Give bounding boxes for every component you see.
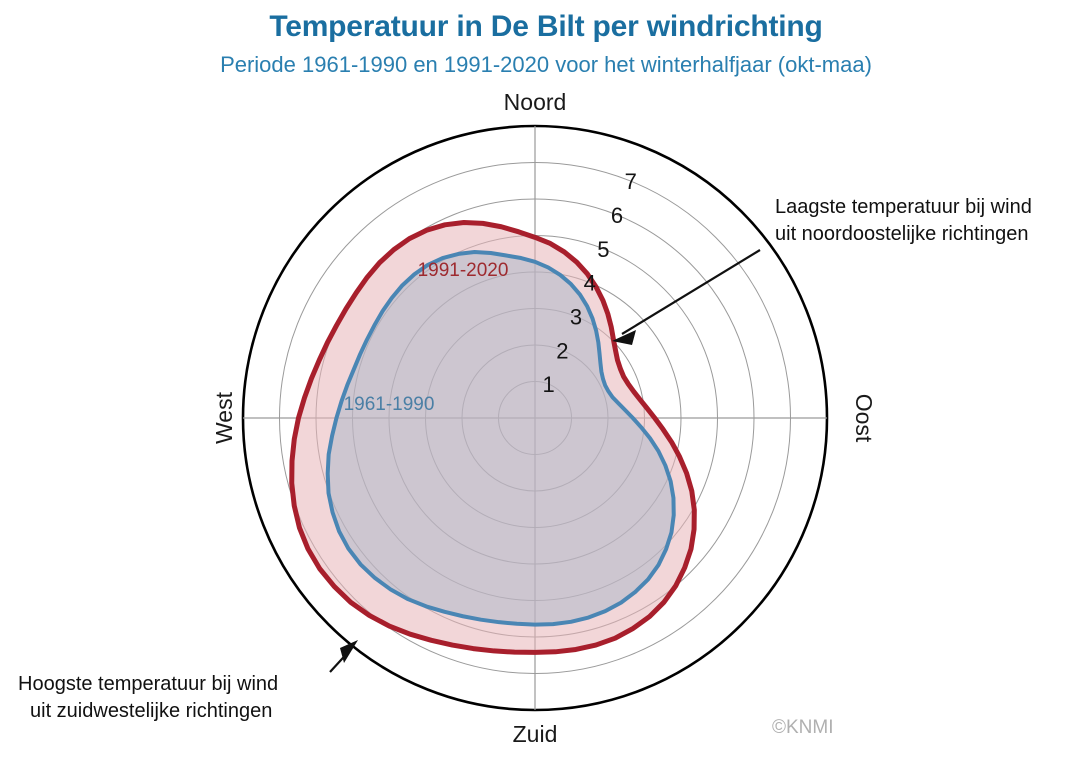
- annotation-ne-line1: Laagste temperatuur bij wind: [775, 196, 1032, 218]
- compass-label-north: Noord: [504, 89, 567, 115]
- compass-label-east: Oost: [851, 394, 877, 443]
- annotation-ne-min: Laagste temperatuur bij wind uit noordoo…: [612, 196, 1032, 345]
- credit-label: ©KNMI: [772, 717, 834, 739]
- annotation-sw-max: Hoogste temperatuur bij wind uit zuidwes…: [18, 640, 358, 722]
- polar-chart: 1234567 Laagste temperatuur bij wind uit…: [0, 0, 1092, 760]
- radial-tick-5: 5: [597, 237, 609, 262]
- annotation-ne-line2: uit noordoostelijke richtingen: [775, 223, 1029, 245]
- radial-tick-1: 1: [543, 372, 555, 397]
- series-label-1991-2020: 1991-2020: [418, 260, 509, 281]
- chart-page: Temperatuur in De Bilt per windrichting …: [0, 0, 1092, 760]
- annotation-ne-leader: [622, 250, 760, 334]
- series-areas: [292, 223, 695, 653]
- annotation-sw-line2: uit zuidwestelijke richtingen: [30, 700, 272, 722]
- radial-tick-6: 6: [611, 203, 623, 228]
- radial-tick-2: 2: [556, 338, 568, 363]
- compass-label-west: West: [211, 391, 237, 444]
- radial-tick-4: 4: [584, 271, 596, 296]
- annotation-sw-line1: Hoogste temperatuur bij wind: [18, 673, 278, 695]
- series-label-1961-1990: 1961-1990: [344, 394, 435, 415]
- radial-tick-3: 3: [570, 304, 582, 329]
- radial-tick-7: 7: [625, 169, 637, 194]
- compass-label-south: Zuid: [513, 721, 558, 747]
